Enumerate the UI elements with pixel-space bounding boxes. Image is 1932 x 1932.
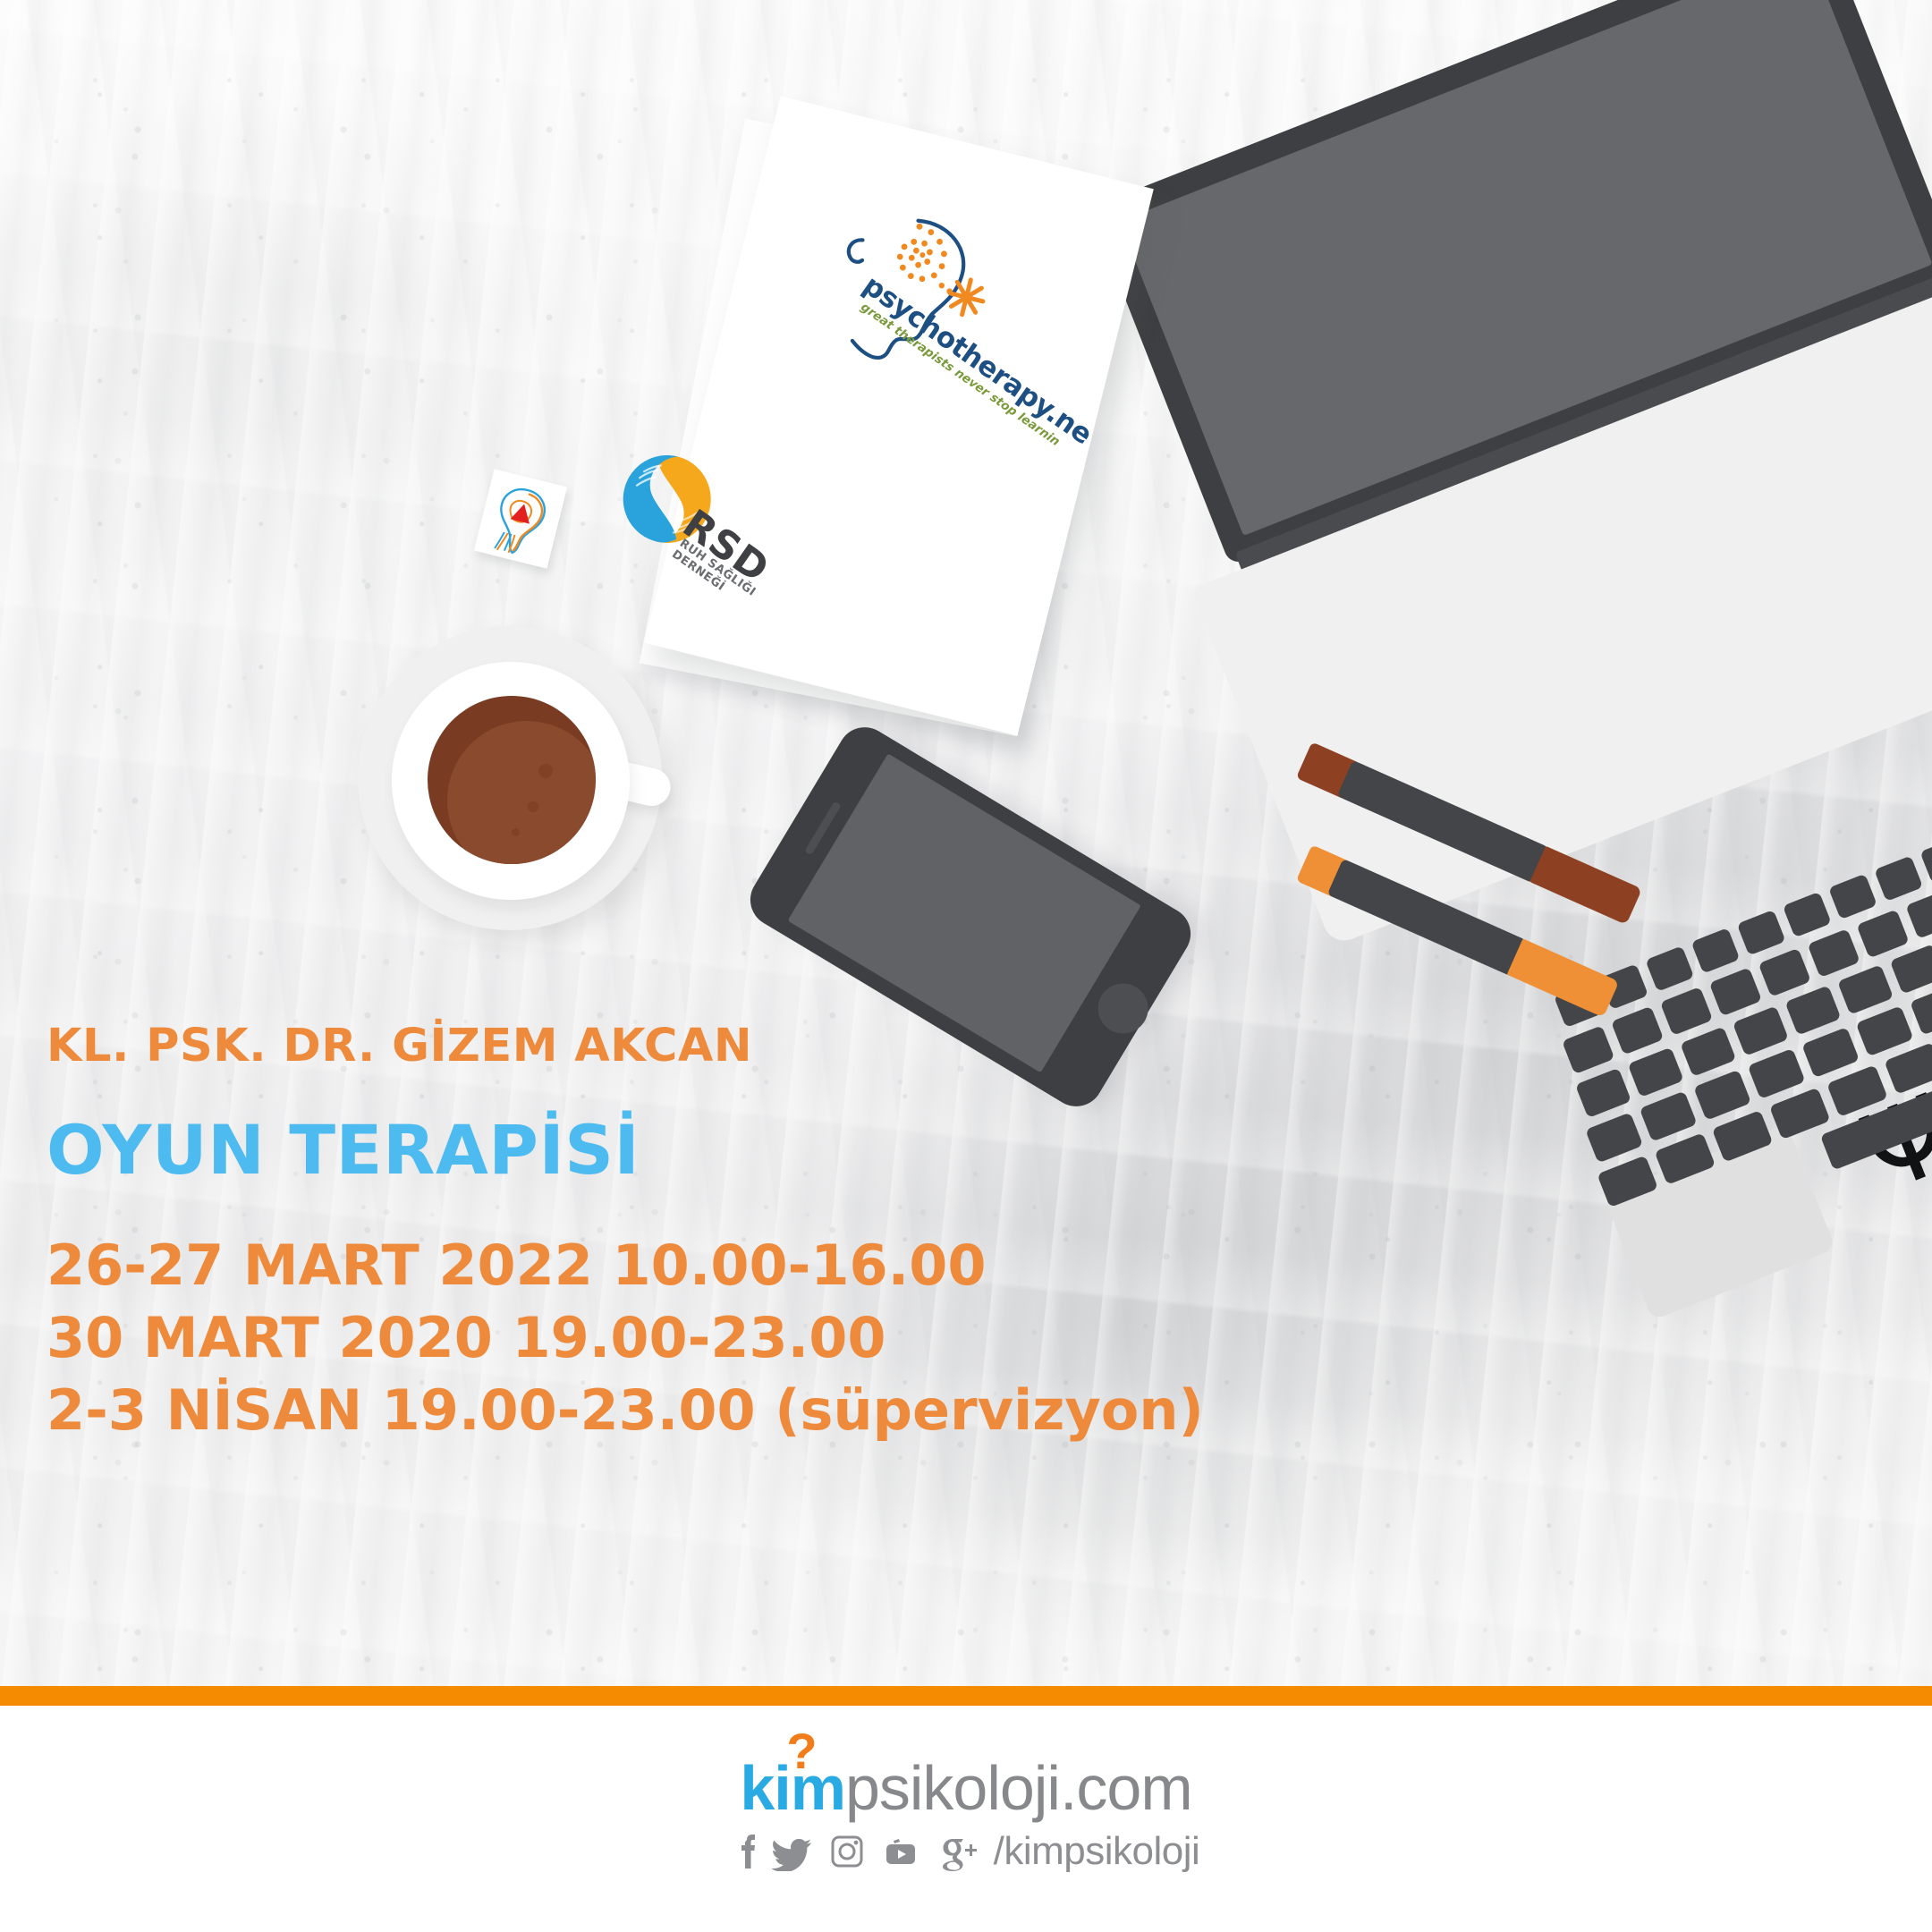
date-line: 2-3 NİSAN 19.00-23.00 (süpervizyon) [47,1374,1388,1446]
coffee-bubble [538,764,553,778]
presenter-name: KL. PSK. DR. GİZEM AKCAN [47,1020,1388,1072]
brand-rest: psikoloji.com [845,1752,1192,1824]
instagram-icon[interactable] [829,1832,865,1871]
text-block: KL. PSK. DR. GİZEM AKCAN OYUN TERAPİSİ 2… [47,1020,1388,1447]
coffee-bubble [528,801,538,812]
date-list: 26-27 MART 2022 10.00-16.00 30 MART 2020… [47,1229,1388,1447]
coffee-liquid [428,696,596,864]
date-line: 30 MART 2020 19.00-23.00 [47,1301,1388,1374]
twitter-icon[interactable] [772,1832,813,1871]
social-handle: /kimpsikoloji [994,1829,1200,1874]
orange-divider [0,1686,1932,1706]
question-mark-icon: ? [786,1722,817,1780]
social-row: /kimpsikoloji [733,1829,1200,1874]
facebook-icon[interactable] [733,1832,756,1871]
coffee-bubble [512,828,520,836]
poster-title: OYUN TERAPİSİ [47,1110,1388,1190]
footer: kim ? psikoloji.com /kimpsikoloji [0,1706,1932,1932]
poster-canvas: Ψ ps [0,0,1932,1932]
coffee-highlight [447,721,596,864]
date-line: 26-27 MART 2022 10.00-16.00 [47,1229,1388,1301]
googleplus-icon[interactable] [936,1832,978,1871]
youtube-icon[interactable] [881,1832,920,1871]
brand-logo[interactable]: kim ? psikoloji.com [740,1752,1191,1824]
